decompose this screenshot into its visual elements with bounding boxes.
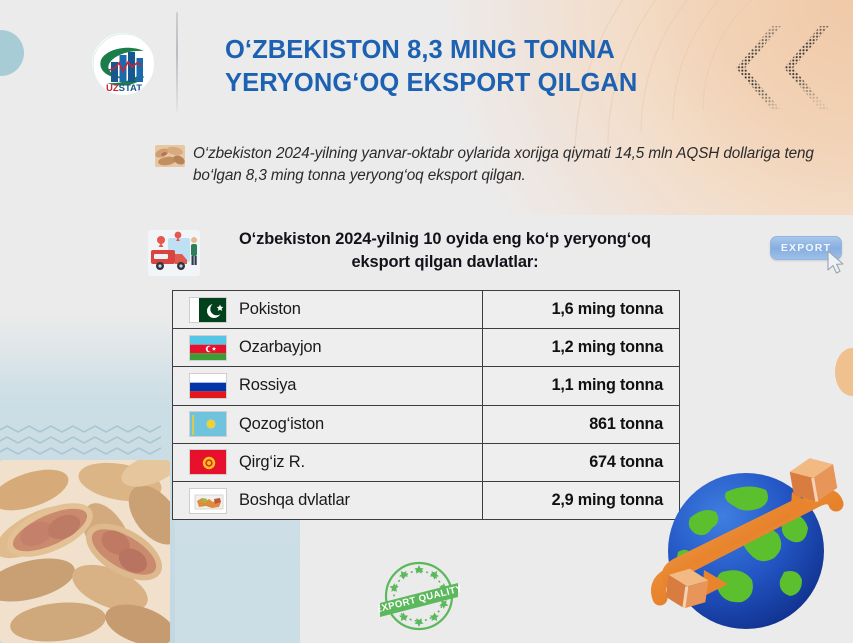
world-map-flag-icon	[189, 488, 227, 514]
table-row[interactable]: Qirg‘iz R. 674 tonna	[173, 444, 679, 482]
mouse-cursor-icon	[826, 250, 848, 276]
country-name: Qirg‘iz R.	[239, 453, 305, 472]
subtitle-text: O‘zbekiston 2024-yilnig 10 oyida eng ko‘…	[210, 228, 680, 275]
header-divider	[176, 12, 178, 112]
country-name: Rossiya	[239, 376, 296, 395]
peanuts-photo	[0, 460, 170, 643]
delivery-truck-icon	[148, 230, 200, 276]
svg-text:UZSTAT: UZSTAT	[106, 83, 142, 94]
table-cell-country: Boshqa dvlatlar	[173, 482, 483, 519]
kyrgyzstan-flag-icon	[189, 449, 227, 475]
description-block: O‘zbekiston 2024-yilning yanvar-oktabr o…	[155, 143, 815, 188]
double-chevron-left-icon	[731, 22, 835, 114]
country-name: Ozarbayjon	[239, 338, 321, 357]
export-quality-stamp: EXPORT QUALITY	[378, 557, 460, 635]
description-text: O‘zbekiston 2024-yilning yanvar-oktabr o…	[155, 143, 815, 188]
export-countries-table: Pokiston 1,6 ming tonna Ozarbayjon 1,2 m…	[172, 290, 680, 520]
subtitle-block: O‘zbekiston 2024-yilnig 10 oyida eng ko‘…	[148, 228, 708, 276]
uzstat-logo-icon: UZSTAT	[92, 33, 155, 96]
table-row[interactable]: Ozarbayjon 1,2 ming tonna	[173, 329, 679, 367]
country-name: Pokiston	[239, 300, 301, 319]
country-name: Boshqa dvlatlar	[239, 491, 350, 510]
uzstat-logo: UZSTAT	[91, 32, 155, 96]
pakistan-flag-icon	[189, 297, 227, 323]
page-title: O‘ZBEKISTON 8,3 MING TONNA YERYONG‘OQ EK…	[225, 34, 715, 99]
globe-shipping-illustration	[648, 448, 844, 638]
russia-flag-icon	[189, 373, 227, 399]
table-row[interactable]: Rossiya 1,1 ming tonna	[173, 367, 679, 405]
table-cell-country: Pokiston	[173, 291, 483, 328]
table-cell-country: Rossiya	[173, 367, 483, 404]
country-value: 1,6 ming tonna	[483, 291, 679, 328]
table-row[interactable]: Qozog‘iston 861 tonna	[173, 406, 679, 444]
table-cell-country: Qirg‘iz R.	[173, 444, 483, 481]
country-value: 1,2 ming tonna	[483, 329, 679, 366]
table-row[interactable]: Boshqa dvlatlar 2,9 ming tonna	[173, 482, 679, 520]
country-value: 1,1 ming tonna	[483, 367, 679, 404]
table-row[interactable]: Pokiston 1,6 ming tonna	[173, 291, 679, 329]
table-cell-country: Qozog‘iston	[173, 406, 483, 443]
peanuts-photo-image	[0, 460, 170, 643]
table-cell-country: Ozarbayjon	[173, 329, 483, 366]
azerbaijan-flag-icon	[189, 335, 227, 361]
country-value: 861 tonna	[483, 406, 679, 443]
decorative-zigzag-pattern	[0, 424, 172, 464]
country-name: Qozog‘iston	[239, 415, 324, 434]
kazakhstan-flag-icon	[189, 411, 227, 437]
peanuts-photo-icon	[155, 145, 185, 167]
